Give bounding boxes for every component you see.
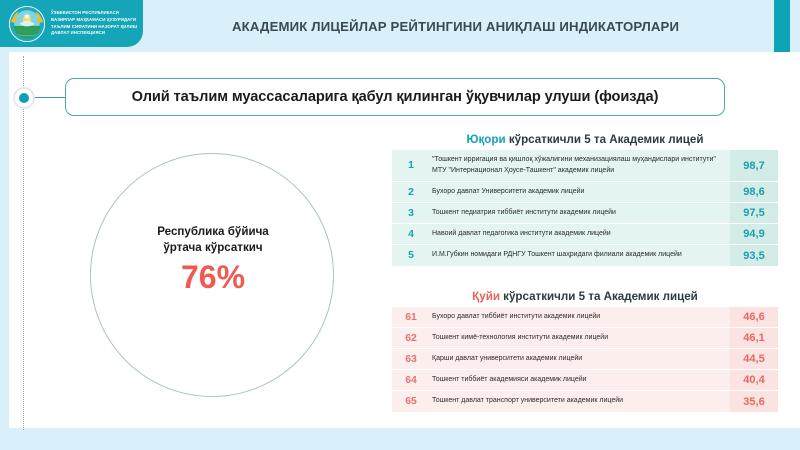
timeline-connector-line [35, 97, 66, 98]
table-row[interactable]: 63Қарши давлат университети академик лиц… [392, 349, 778, 370]
subtitle-text: Олий таълим муассасаларига қабул қилинга… [132, 89, 659, 105]
row-lyceum-name: Тошкент тиббиёт академияси академик лице… [430, 370, 730, 390]
row-rank: 1 [392, 150, 430, 181]
row-value: 40,4 [730, 370, 778, 390]
page-title: АКАДЕМИК ЛИЦЕЙЛАР РЕЙТИНГИНИ АНИҚЛАШ ИНД… [232, 0, 679, 52]
org-line-1: ЎЗБЕКИСТОН РЕСПУБЛИКАСИ [51, 10, 137, 17]
row-value: 46,1 [730, 328, 778, 348]
row-rank: 3 [392, 203, 430, 223]
row-value: 35,6 [730, 391, 778, 412]
row-lyceum-name: Қарши давлат университети академик лицей… [430, 349, 730, 369]
org-line-3: ТАЪЛИМ СИФАТИНИ НАЗОРАТ ҚИЛИШ [51, 24, 137, 31]
row-rank: 65 [392, 391, 430, 412]
table-row[interactable]: 64Тошкент тиббиёт академияси академик ли… [392, 370, 778, 391]
row-value: 98,7 [730, 150, 778, 181]
national-average-content: Республика бўйича ўртача кўрсаткич 76% [91, 224, 335, 296]
row-lyceum-name: И.М.Губкин номидаги РДНГУ Тошкент шаҳрид… [430, 245, 730, 266]
organization-name: ЎЗБЕКИСТОН РЕСПУБЛИКАСИ ВАЗИРЛАР МАҲКАМА… [51, 10, 137, 37]
row-lyceum-name: Тошкент кимё-технология институти академ… [430, 328, 730, 348]
table-row[interactable]: 1"Тошкент ирригация ва қишлоқ хўжалигини… [392, 150, 778, 182]
top-ranked-lyceums-table: 1"Тошкент ирригация ва қишлоқ хўжалигини… [392, 150, 778, 266]
top-table-title: Юқори кўрсаткичли 5 та Академик лицей [392, 133, 778, 146]
org-line-2: ВАЗИРЛАР МАҲКАМАСИ ҲУЗУРИДАГИ [51, 17, 137, 24]
bottom-accent-strip [0, 428, 800, 450]
row-rank: 64 [392, 370, 430, 390]
national-average-circle: Республика бўйича ўртача кўрсаткич 76% [90, 153, 334, 397]
top-table-title-rest: кўрсаткичли 5 та Академик лицей [506, 133, 704, 146]
bottom-table-title-rest: кўрсаткичли 5 та Академик лицей [500, 290, 698, 303]
table-row[interactable]: 62Тошкент кимё-технология институти акад… [392, 328, 778, 349]
uzbekistan-coat-of-arms-icon [8, 5, 46, 43]
row-rank: 63 [392, 349, 430, 369]
timeline-dotted-line [23, 56, 24, 430]
table-row[interactable]: 65Тошкент давлат транспорт университети … [392, 391, 778, 412]
row-lyceum-name: "Тошкент ирригация ва қишлоқ хўжалигини … [430, 150, 730, 181]
row-value: 44,5 [730, 349, 778, 369]
org-line-4: ДАВЛАТ ИНСПЕКЦИЯСИ [51, 30, 137, 37]
row-rank: 61 [392, 307, 430, 327]
left-accent-strip [0, 52, 9, 437]
organization-logo-block: ЎЗБЕКИСТОН РЕСПУБЛИКАСИ ВАЗИРЛАР МАҲКАМА… [0, 0, 143, 47]
bottom-table-title-highlight: Қуйи [472, 290, 500, 303]
table-row[interactable]: 3Тошкент педиатрия тиббиёт институти ака… [392, 203, 778, 224]
subtitle-banner: Олий таълим муассасаларига қабул қилинга… [65, 78, 725, 116]
slide-root: ЎЗБЕКИСТОН РЕСПУБЛИКАСИ ВАЗИРЛАР МАҲКАМА… [0, 0, 800, 450]
table-row[interactable]: 2Бухоро давлат Университети академик лиц… [392, 182, 778, 203]
row-value: 97,5 [730, 203, 778, 223]
row-value: 94,9 [730, 224, 778, 244]
table-row[interactable]: 4Навоий давлат педагогика институти акад… [392, 224, 778, 245]
row-lyceum-name: Навоий давлат педагогика институти акаде… [430, 224, 730, 244]
row-value: 98,6 [730, 182, 778, 202]
average-label-line-1: Республика бўйича [91, 224, 335, 240]
row-lyceum-name: Тошкент давлат транспорт университети ак… [430, 391, 730, 412]
row-lyceum-name: Бухоро давлат Университети академик лице… [430, 182, 730, 202]
row-rank: 5 [392, 245, 430, 266]
row-value: 93,5 [730, 245, 778, 266]
top-table-title-highlight: Юқори [467, 133, 506, 146]
row-rank: 4 [392, 224, 430, 244]
row-rank: 62 [392, 328, 430, 348]
average-value: 76% [91, 259, 335, 296]
timeline-node-marker [13, 87, 35, 109]
bottom-ranked-lyceums-table: 61Бухоро давлат тиббиёт институти академ… [392, 307, 778, 412]
bottom-table-title: Қуйи кўрсаткичли 5 та Академик лицей [392, 290, 778, 303]
row-rank: 2 [392, 182, 430, 202]
table-row[interactable]: 61Бухоро давлат тиббиёт институти академ… [392, 307, 778, 328]
header-right-accent-tab [774, 0, 790, 52]
row-lyceum-name: Бухоро давлат тиббиёт институти академик… [430, 307, 730, 327]
row-lyceum-name: Тошкент педиатрия тиббиёт институти акад… [430, 203, 730, 223]
table-row[interactable]: 5И.М.Губкин номидаги РДНГУ Тошкент шаҳри… [392, 245, 778, 266]
row-value: 46,6 [730, 307, 778, 327]
average-label-line-2: ўртача кўрсаткич [91, 240, 335, 256]
